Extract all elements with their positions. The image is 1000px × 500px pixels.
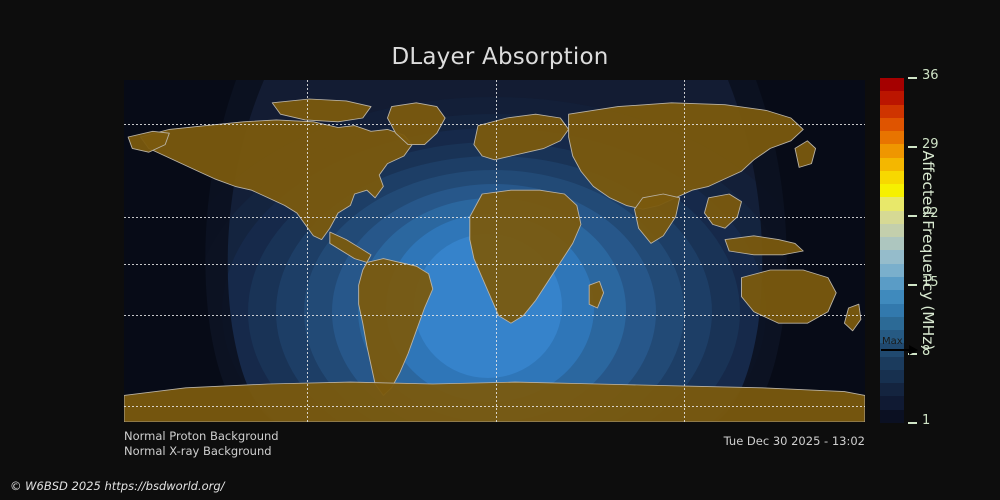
colorbar-band (880, 144, 904, 157)
page-title: DLayer Absorption (0, 44, 1000, 70)
colorbar-band (880, 370, 904, 383)
colorbar-band (880, 304, 904, 317)
colorbar-band (880, 184, 904, 197)
colorbar-band (880, 78, 904, 91)
colorbar-band (880, 91, 904, 104)
gridline-lat-0 (124, 264, 865, 265)
colorbar[interactable]: 1815222936 (880, 78, 904, 423)
gridline-lon-0 (496, 80, 497, 422)
figure-canvas: DLayer Absorption (0, 0, 1000, 500)
colorbar-band (880, 290, 904, 303)
map-axes[interactable] (124, 80, 865, 422)
colorbar-band (880, 250, 904, 263)
colorbar-band (880, 171, 904, 184)
colorbar-band (880, 224, 904, 237)
colorbar-band (880, 211, 904, 224)
colorbar-band (880, 131, 904, 144)
timestamp-label: Tue Dec 30 2025 - 13:02 (0, 434, 865, 448)
colorbar-band (880, 317, 904, 330)
gridline-lat-30 (124, 217, 865, 218)
max-marker-arrow-shaft (881, 349, 911, 351)
gridline-lon--90 (307, 80, 308, 422)
colorbar-band (880, 383, 904, 396)
copyright-credit: © W6BSD 2025 https://bsdworld.org/ (10, 479, 225, 493)
colorbar-band (880, 158, 904, 171)
colorbar-band (880, 118, 904, 131)
gridline-lat-60 (124, 124, 865, 125)
gridline-lat--30 (124, 315, 865, 316)
colorbar-band (880, 105, 904, 118)
colorbar-band (880, 396, 904, 409)
map-gridlines (124, 80, 865, 422)
max-marker-label: Max (882, 336, 903, 347)
colorbar-band (880, 197, 904, 210)
colorbar-axis-label: Affected Frequency (MHz) (916, 78, 940, 423)
gridline-lat--60 (124, 406, 865, 407)
colorbar-band (880, 410, 904, 423)
colorbar-band (880, 264, 904, 277)
gridline-lon-90 (684, 80, 685, 422)
colorbar-band (880, 237, 904, 250)
colorbar-gradient (880, 78, 904, 423)
colorbar-band (880, 277, 904, 290)
